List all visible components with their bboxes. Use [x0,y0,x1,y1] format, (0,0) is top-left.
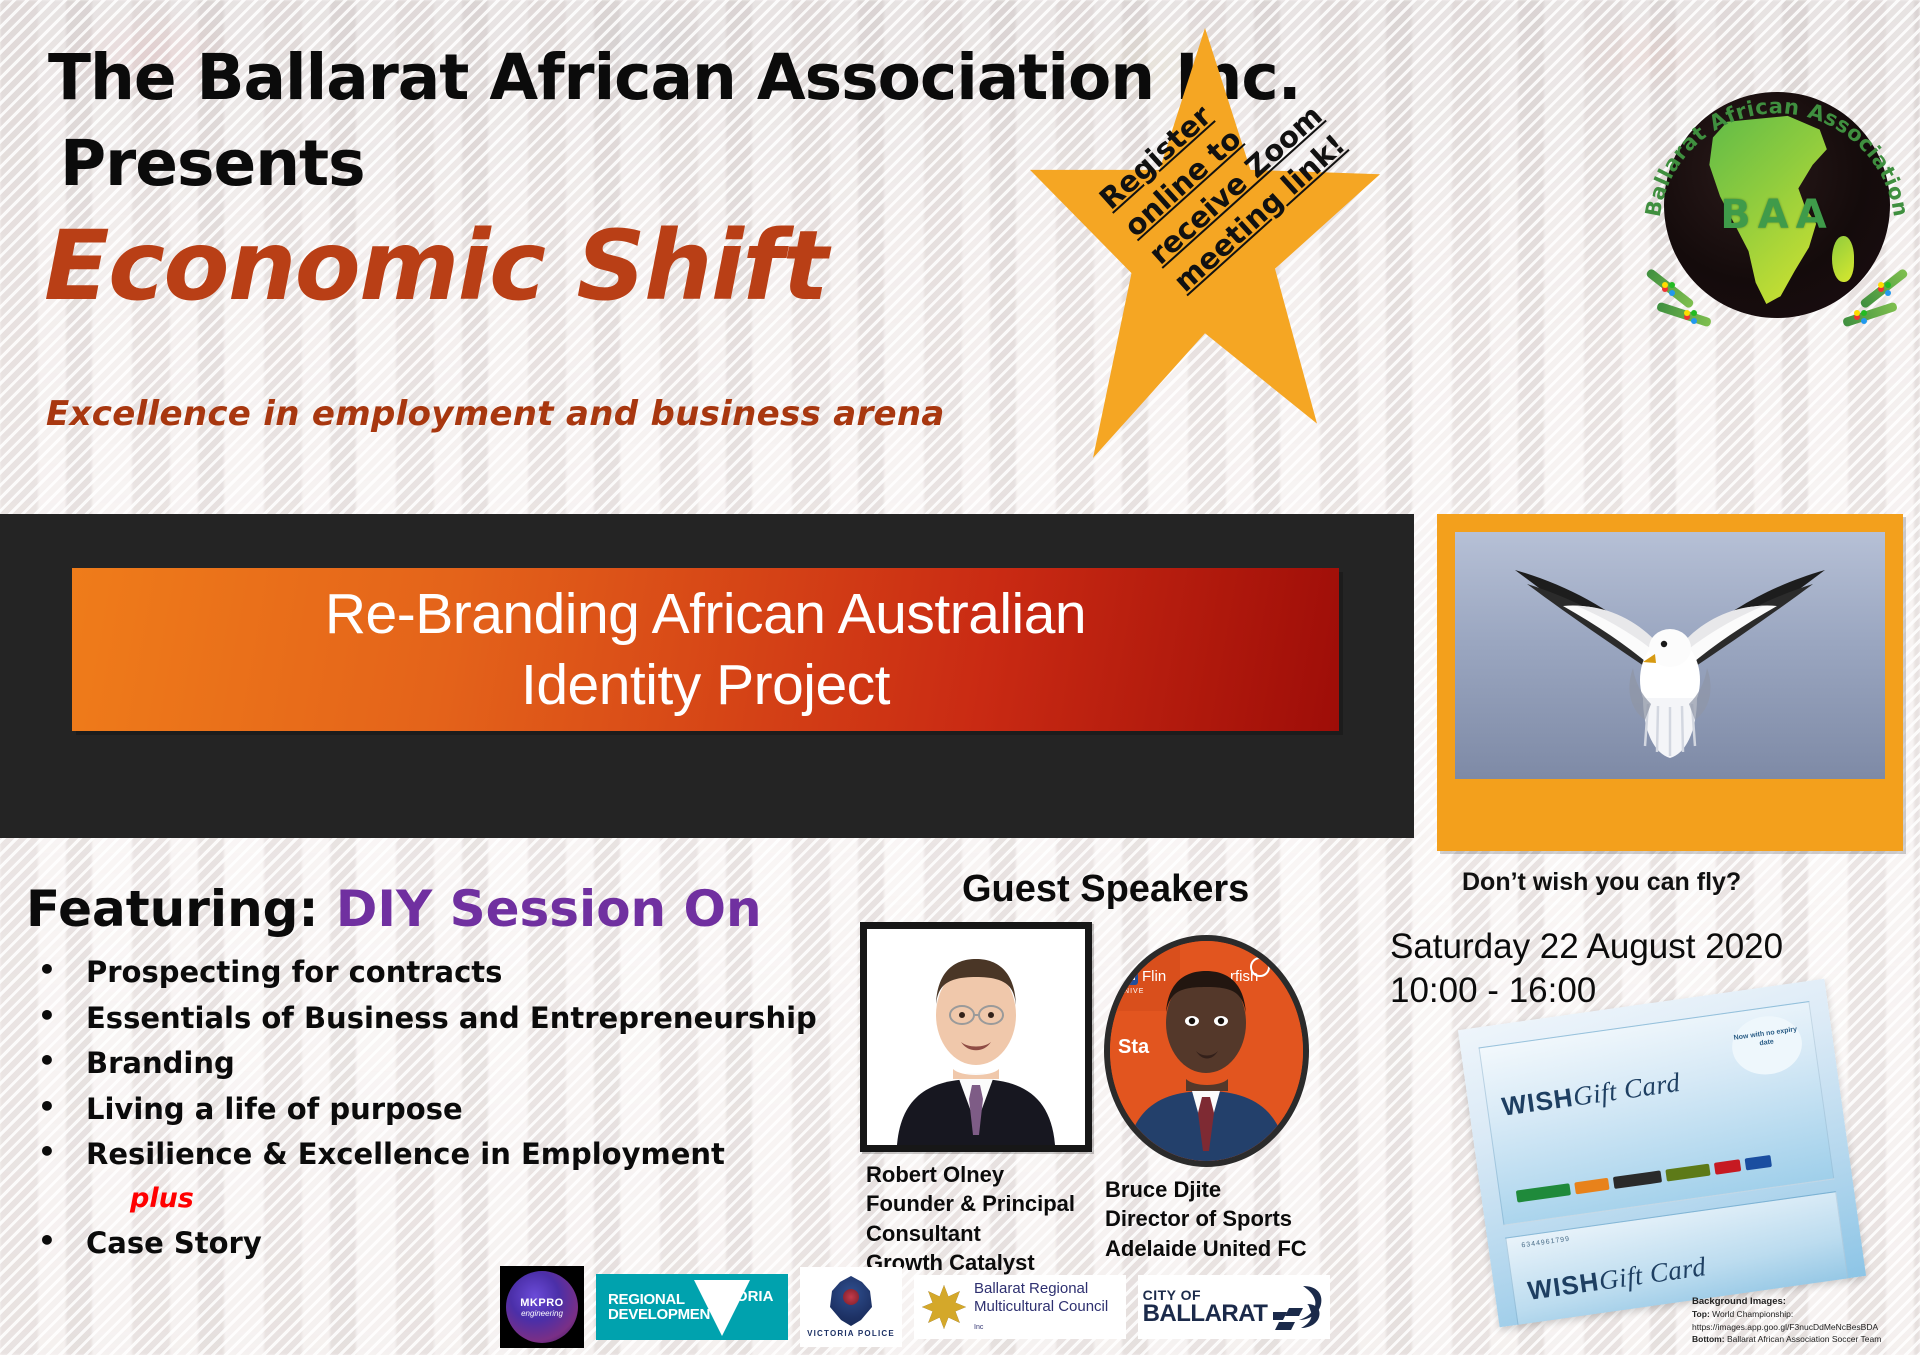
list-item: Branding [30,1043,830,1084]
baa-logo: Ballarat African Association BAA [1632,48,1920,340]
sponsor-line-3: VICTORIA [702,1288,773,1305]
sponsor-logo-city-of-ballarat: CITY OF BALLARAT [1138,1275,1330,1339]
speaker-name: Robert Olney [866,1160,1075,1189]
retailer-logo [1665,1164,1710,1182]
sponsor-name: VICTORIA POLICE [807,1329,895,1338]
sponsor-line-2: BALLARAT [1143,1302,1268,1326]
seagull-photo [1455,532,1885,779]
ballarat-swirl-icon [1273,1284,1325,1330]
sponsor-tagline: engineering [521,1309,563,1318]
retailer-logo [1574,1178,1609,1195]
credits-top-value: World Championship: [1712,1309,1793,1319]
speaker-name-block-1: Robert Olney Founder & Principal Consult… [866,1160,1075,1277]
retailer-logo [1613,1170,1662,1189]
credits-bottom-line: Bottom: Ballarat African Association Soc… [1692,1333,1920,1345]
sponsor-logo-row: MKPRO engineering REGIONAL DEVELOPMENT V… [500,1266,1330,1348]
sponsor-line-1: Ballarat Regional [974,1280,1118,1298]
event-poster: The Ballarat African Association Inc. Pr… [0,0,1920,1355]
list-item: Essentials of Business and Entrepreneurs… [30,998,830,1039]
avatar [867,929,1085,1145]
speaker-role-line-1: Founder & Principal [866,1189,1075,1218]
sponsor-logo-ballarat-regional-multicultural-council: Ballarat Regional Multicultural Council … [914,1275,1126,1339]
sponsor-logo-victoria-police: VICTORIA POLICE [800,1267,902,1347]
project-title-text: Re-Branding African Australian Identity … [325,579,1086,719]
project-title-banner: Re-Branding African Australian Identity … [72,568,1339,731]
featuring-list: Prospecting for contracts Essentials of … [30,952,830,1268]
gift-card-brand-mark-back: WISH [1526,1266,1601,1306]
credits-bottom-label: Bottom: [1692,1334,1725,1344]
sponsor-logo-mkpro: MKPRO engineering [500,1266,584,1348]
plus-label: plus [30,1180,830,1218]
logo-initials: BAA [1632,192,1920,238]
credits-top-line: Top: World Championship: [1692,1308,1920,1320]
gift-card-brand-script: Gift Card [1571,1067,1682,1112]
sponsor-line-2: DEVELOPMENT [608,1307,719,1322]
police-crest-icon [826,1276,876,1326]
background-image-credits: Background Images: Top: World Championsh… [1692,1295,1920,1345]
gift-card-brand-back: WISHGift Card [1526,1251,1708,1307]
retailer-logo [1714,1159,1741,1175]
speaker-name: Bruce Djite [1105,1175,1307,1204]
svg-text:Flin: Flin [1142,968,1166,985]
brmc-wordmark: Ballarat Regional Multicultural Council … [974,1280,1118,1334]
seagull-icon [1455,532,1885,779]
project-title-line-1: Re-Branding African Australian [325,579,1086,649]
speaker-name-block-2: Bruce Djite Director of Sports Adelaide … [1105,1175,1307,1263]
star-icon [922,1285,966,1329]
cob-wordmark: CITY OF BALLARAT [1143,1288,1268,1326]
sponsor-suffix: Inc [974,1324,983,1331]
event-name: Economic Shift [44,218,827,314]
retailer-logo [1745,1155,1772,1171]
list-item: Case Story [30,1223,830,1264]
speaker-role-line-1: Director of Sports [1105,1204,1307,1233]
featuring-highlight: DIY Session On [336,880,762,938]
presents-label: Presents [60,132,365,195]
bird-caption: Don’t wish you can fly? [1462,868,1741,897]
portrait-icon [867,929,1085,1145]
wish-gift-card-image: Now with no expiry date WISHGift Card 63… [1458,979,1866,1328]
list-item: Living a life of purpose [30,1089,830,1130]
gift-card-number: 6344961799 [1521,1236,1570,1250]
event-tagline: Excellence in employment and business ar… [46,394,945,434]
portrait-icon: Flin UNIVE rfish Sta [1110,941,1303,1161]
speaker-photo-robert-olney [860,922,1092,1152]
guest-speakers-heading: Guest Speakers [962,868,1249,911]
credits-heading: Background Images: [1692,1295,1920,1308]
sponsor-line-2: Multicultural Council Inc [974,1298,1118,1334]
sponsor-name: MKPRO [520,1297,563,1309]
credits-url: https://images.app.goo.gl/F3nucDdMeNcBes… [1692,1321,1920,1333]
logo-ribbon [1640,266,1914,340]
svg-text:Sta: Sta [1118,1036,1150,1058]
sponsor-logo-regional-development-victoria: REGIONAL DEVELOPMENT VICTORIA [596,1274,788,1340]
sponsor-line-2-text: Multicultural Council [974,1298,1108,1315]
gift-card-brand: WISHGift Card [1500,1067,1682,1123]
featuring-heading: Featuring: DIY Session On [26,880,762,938]
speaker-role-line-2: Adelaide United FC [1105,1234,1307,1263]
gift-card-brand-script-back: Gift Card [1597,1251,1708,1296]
list-item: Resilience & Excellence in Employment [30,1134,830,1175]
gift-card-brand-mark: WISH [1500,1082,1575,1122]
featuring-prefix: Featuring: [26,880,318,938]
no-expiry-badge: Now with no expiry date [1728,1012,1805,1079]
retailer-logos [1516,1151,1800,1203]
mkpro-orb-icon: MKPRO engineering [506,1271,578,1343]
speaker-role-line-2: Consultant [866,1219,1075,1248]
event-date: Saturday 22 August 2020 [1390,925,1783,969]
credits-bottom-value: Ballarat African Association Soccer Team [1727,1334,1881,1344]
register-star-badge[interactable]: Register online to receive Zoom meeting … [1030,28,1380,458]
project-title-line-2: Identity Project [325,650,1086,720]
speaker-photo-bruce-djite: Flin UNIVE rfish Sta [1104,935,1309,1167]
svg-text:UNIVE: UNIVE [1118,988,1144,995]
retailer-logo [1516,1183,1571,1202]
credits-top-label: Top: [1692,1309,1710,1319]
gift-card-front: Now with no expiry date WISHGift Card [1479,1001,1835,1226]
bird-image-panel [1437,514,1903,851]
list-item: Prospecting for contracts [30,952,830,993]
